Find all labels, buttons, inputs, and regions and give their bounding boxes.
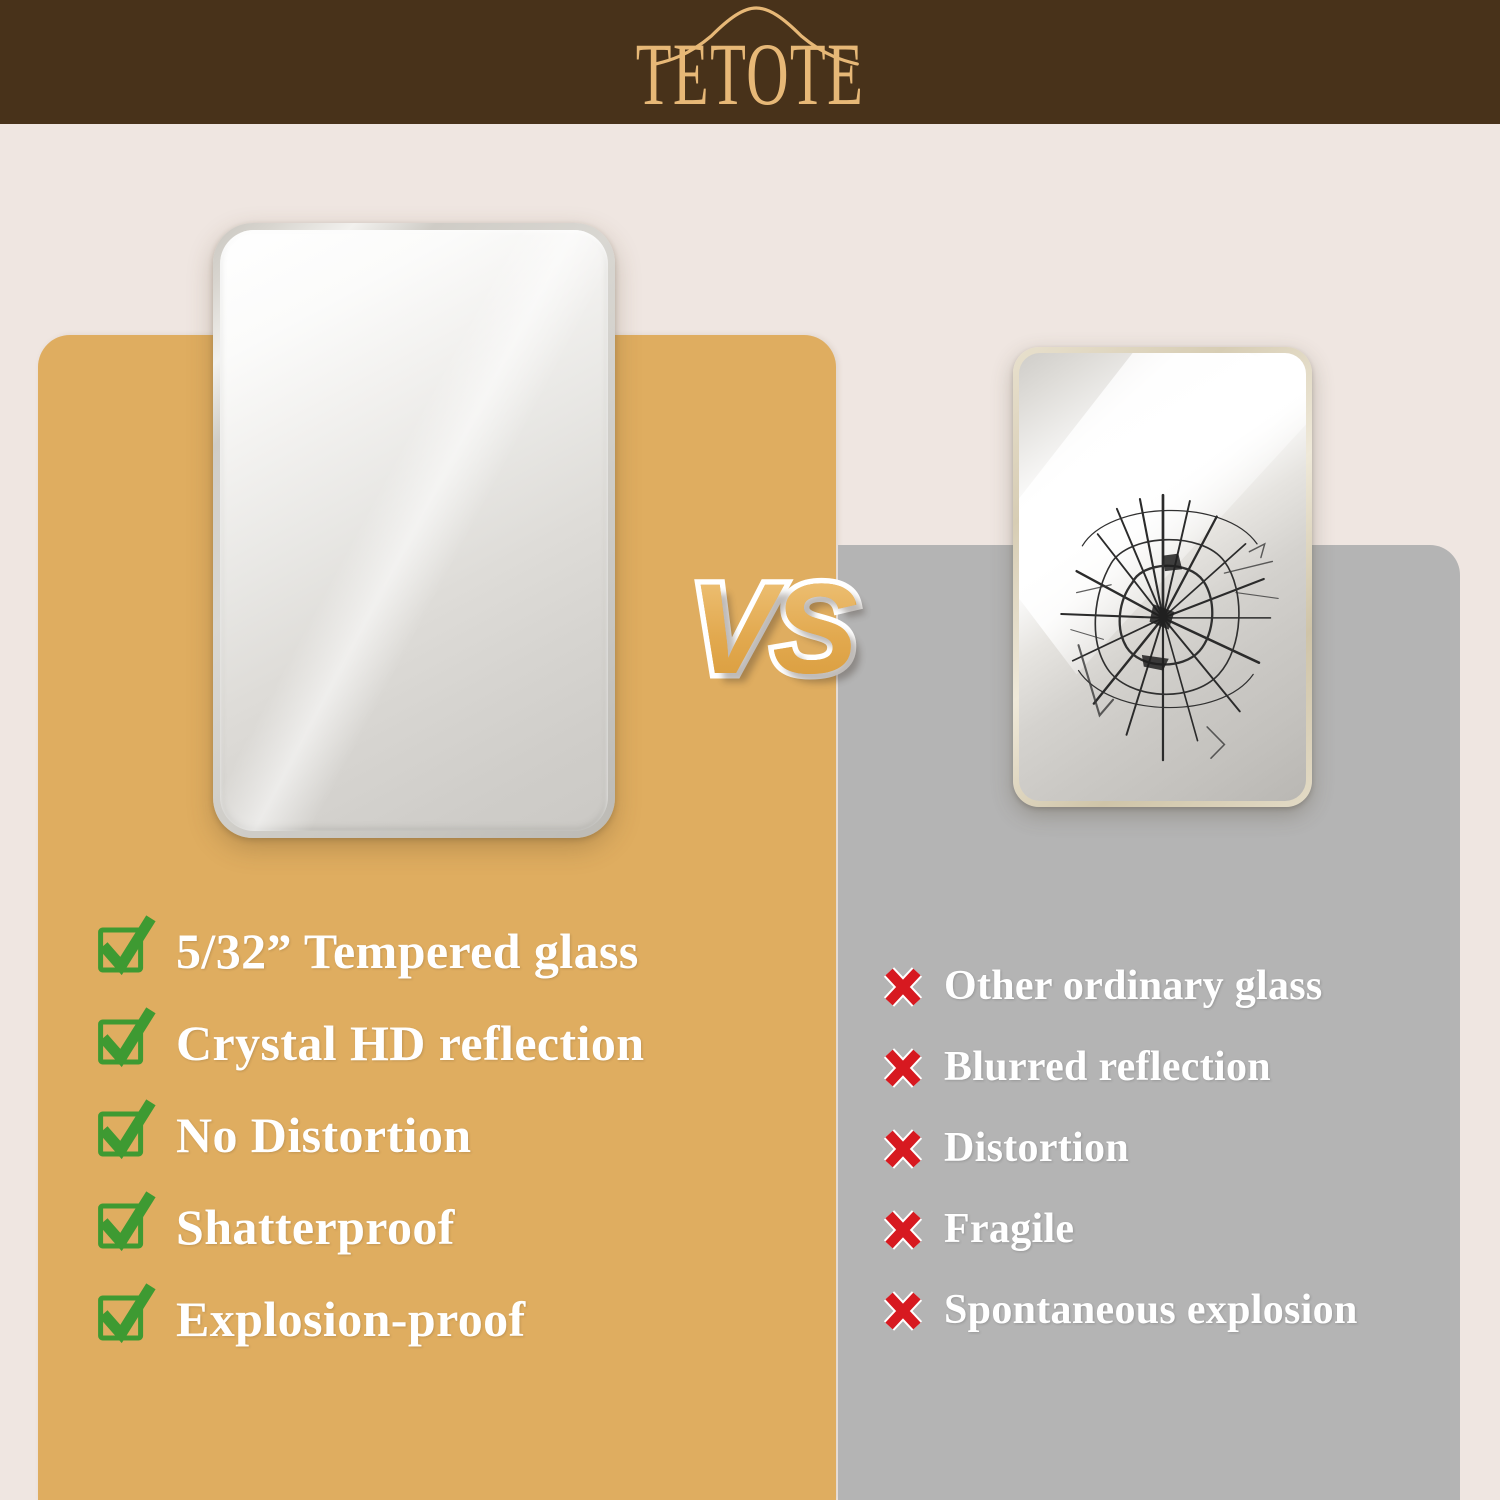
list-item: Distortion bbox=[884, 1107, 1464, 1188]
list-item: Crystal HD reflection bbox=[98, 997, 818, 1089]
green-check-box-icon bbox=[98, 1290, 150, 1348]
list-item-label: Distortion bbox=[944, 1124, 1129, 1172]
list-item: No Distortion bbox=[98, 1089, 818, 1181]
green-check-box-icon bbox=[98, 1014, 150, 1072]
tempered-glass-mirror-image bbox=[213, 223, 615, 838]
list-item-label: 5/32” Tempered glass bbox=[176, 922, 639, 980]
list-item-label: Other ordinary glass bbox=[944, 962, 1323, 1010]
red-cross-icon bbox=[884, 1043, 922, 1091]
list-item: Other ordinary glass bbox=[884, 945, 1464, 1026]
cracked-mirror-glass-surface bbox=[1019, 353, 1306, 801]
red-cross-icon bbox=[884, 1124, 922, 1172]
list-item: Blurred reflection bbox=[884, 1026, 1464, 1107]
brand-logo: TETOTE bbox=[550, 4, 950, 122]
list-item-label: Shatterproof bbox=[176, 1198, 455, 1256]
bad-feature-list: Other ordinary glass Blurred reflection … bbox=[884, 945, 1464, 1350]
list-item-label: Blurred reflection bbox=[944, 1043, 1271, 1091]
list-item: 5/32” Tempered glass bbox=[98, 905, 818, 997]
list-item-label: Fragile bbox=[944, 1205, 1074, 1253]
mirror-glass-surface bbox=[220, 230, 608, 831]
list-item: Shatterproof bbox=[98, 1181, 818, 1273]
list-item-label: Explosion-proof bbox=[176, 1290, 526, 1348]
shattered-glass-crack-pattern-icon bbox=[1019, 353, 1306, 801]
brand-header-bar: TETOTE bbox=[0, 0, 1500, 124]
list-item: Spontaneous explosion bbox=[884, 1269, 1464, 1350]
brand-name: TETOTE bbox=[636, 30, 865, 119]
comparison-infographic: TETOTE bbox=[0, 0, 1500, 1500]
green-check-box-icon bbox=[98, 1198, 150, 1256]
list-item-label: Spontaneous explosion bbox=[944, 1286, 1358, 1334]
red-cross-icon bbox=[884, 1286, 922, 1334]
list-item-label: No Distortion bbox=[176, 1106, 471, 1164]
good-feature-list: 5/32” Tempered glass Crystal HD reflecti… bbox=[98, 905, 818, 1365]
green-check-box-icon bbox=[98, 922, 150, 980]
cracked-mirror-image bbox=[1013, 347, 1312, 807]
list-item-label: Crystal HD reflection bbox=[176, 1014, 644, 1072]
mirror-sheen-highlight bbox=[220, 230, 608, 831]
vs-badge: VS bbox=[690, 566, 855, 694]
red-cross-icon bbox=[884, 962, 922, 1010]
list-item: Fragile bbox=[884, 1188, 1464, 1269]
green-check-box-icon bbox=[98, 1106, 150, 1164]
list-item: Explosion-proof bbox=[98, 1273, 818, 1365]
red-cross-icon bbox=[884, 1205, 922, 1253]
